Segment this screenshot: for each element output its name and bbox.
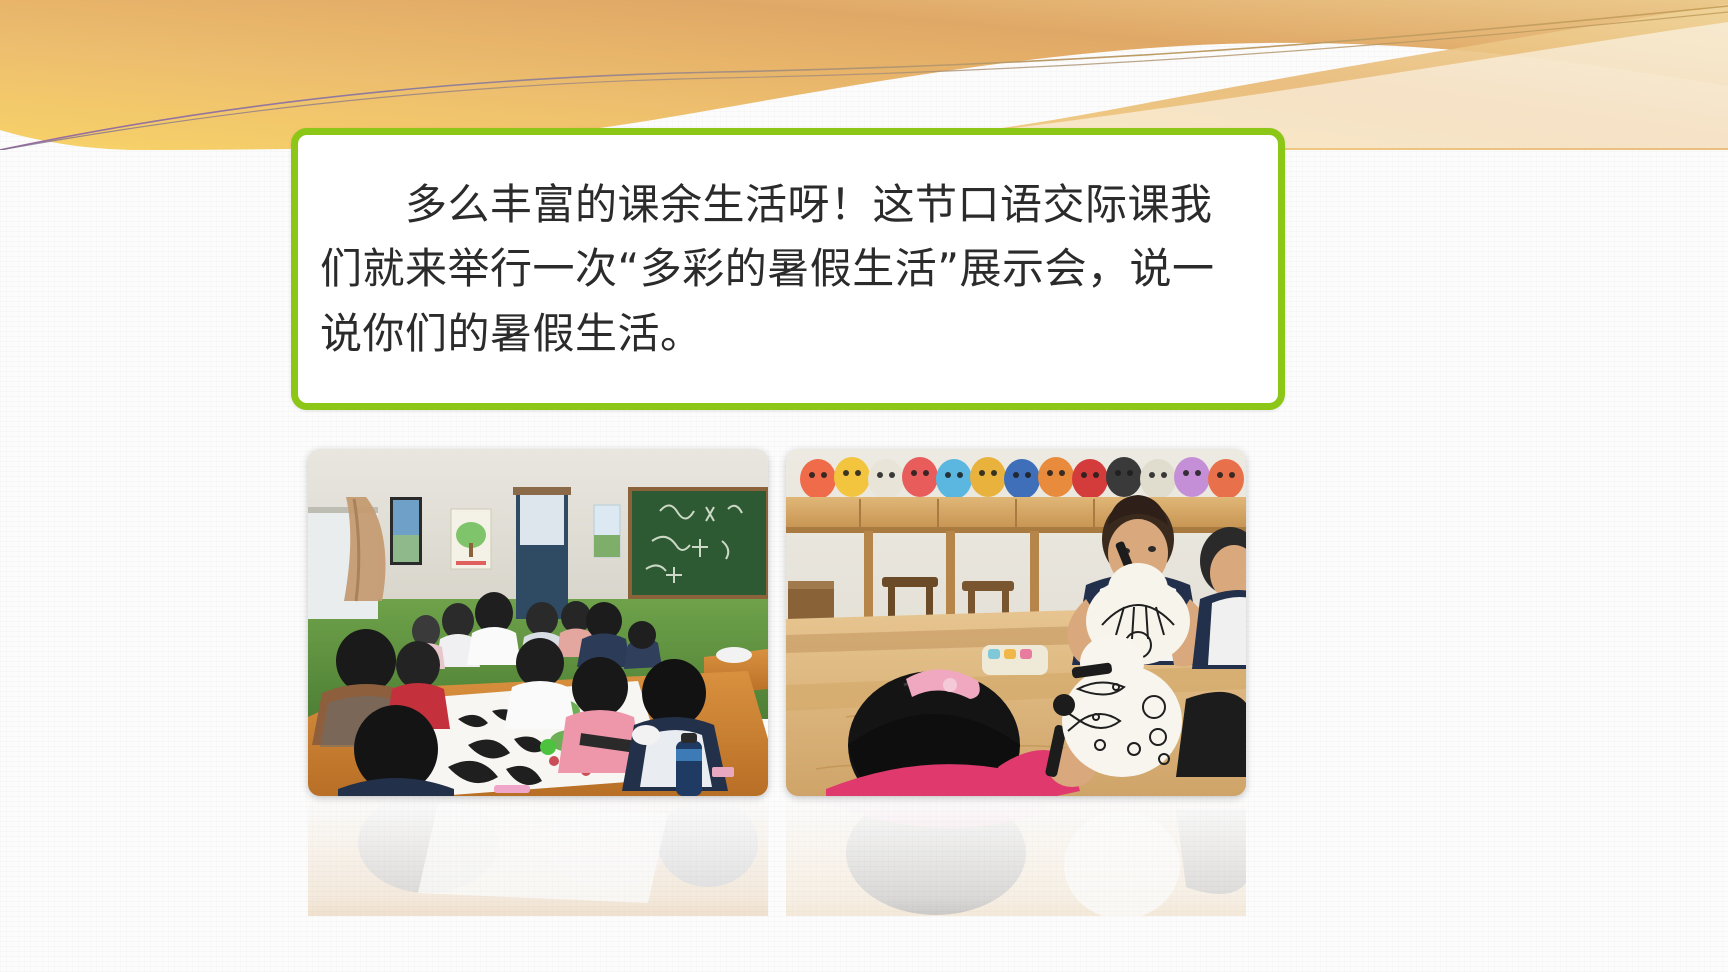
slide: 多么丰富的课余生活呀！这节口语交际课我们就来举行一次“多彩的暑假生活”展示会，说… [0,0,1728,972]
photo-classroom-painting-container [308,449,768,796]
instruction-text: 多么丰富的课余生活呀！这节口语交际课我们就来举行一次“多彩的暑假生活”展示会，说… [320,173,1252,366]
photo-gourd-painting [786,449,1246,796]
green-bordered-text-box: 多么丰富的课余生活呀！这节口语交际课我们就来举行一次“多彩的暑假生活”展示会，说… [291,128,1285,410]
photo-classroom-painting-reflection [308,796,768,916]
photo-classroom-painting [308,449,768,796]
photo-gourd-painting-reflection [786,796,1246,916]
photo-gourd-painting-container [786,449,1246,796]
